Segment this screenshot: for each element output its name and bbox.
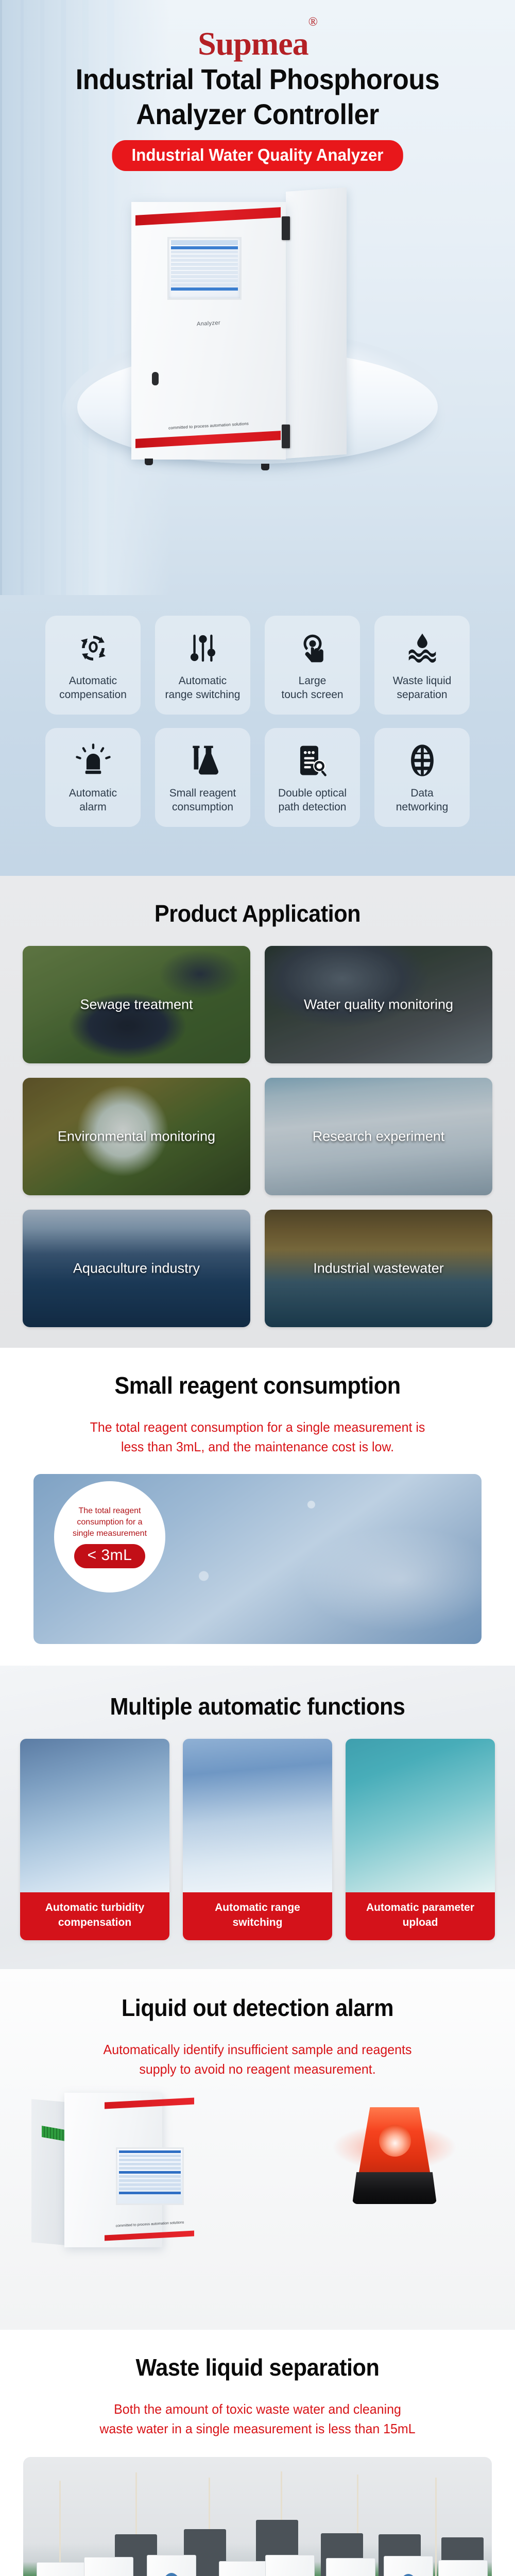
auto-compensation-icon bbox=[74, 629, 113, 668]
application-card-sewage-treatment[interactable]: Sewage treatment bbox=[23, 946, 250, 1063]
cabinet-top-stripe bbox=[135, 207, 281, 226]
feature-card-waste-liquid[interactable]: Waste liquid separation bbox=[374, 616, 470, 715]
section-subtitle-waste: Both the amount of toxic waste water and… bbox=[10, 2400, 505, 2438]
auto-function-card-turbidity-compensation[interactable]: Automatic turbidity compensation bbox=[20, 1739, 169, 1940]
application-caption: Industrial wastewater bbox=[265, 1261, 492, 1277]
auto-caption-line2: upload bbox=[403, 1917, 438, 1928]
auto-function-photo bbox=[183, 1739, 332, 1892]
feature-card-label: Small reagent consumption bbox=[169, 786, 236, 815]
alarm-beacon-illustration bbox=[330, 2098, 458, 2232]
waste-liquid-icon bbox=[403, 629, 442, 668]
product-cabinet: Analyzer committed to process automation… bbox=[131, 202, 286, 460]
application-caption: Research experiment bbox=[265, 1129, 492, 1145]
application-card-water-quality-monitoring[interactable]: Water quality monitoring bbox=[265, 946, 492, 1063]
page-title-line2: Analyzer Controller bbox=[136, 98, 379, 130]
auto-function-caption: Automatic parameter upload bbox=[346, 1892, 495, 1940]
small-reagent-section: Small reagent consumption The total reag… bbox=[0, 1348, 515, 1666]
application-caption: Environmental monitoring bbox=[23, 1129, 250, 1145]
feature-card-range-switching[interactable]: Automatic range switching bbox=[155, 616, 250, 715]
application-caption: Aquaculture industry bbox=[23, 1261, 250, 1277]
beacon-base bbox=[352, 2172, 437, 2204]
reagent-callout-bubble: The total reagent consumption for a sing… bbox=[54, 1481, 165, 1592]
instrument-top-stripe bbox=[105, 2098, 194, 2109]
cabinet-hinge-bottom-icon bbox=[282, 425, 290, 448]
application-card-research-experiment[interactable]: Research experiment bbox=[265, 1078, 492, 1195]
feature-row-2: Automatic alarm Small reagent consumptio… bbox=[0, 728, 515, 827]
feature-label-line1: Large bbox=[299, 675, 327, 687]
waste-subtitle-line1: Both the amount of toxic waste water and… bbox=[114, 2401, 401, 2417]
section-subtitle-alarm: Automatically identify insufficient samp… bbox=[10, 2040, 505, 2079]
application-grid: Sewage treatment Water quality monitorin… bbox=[0, 946, 515, 1327]
feature-label-line2: path detection bbox=[279, 801, 347, 813]
application-caption: Water quality monitoring bbox=[265, 997, 492, 1013]
waste-factory-photo bbox=[23, 2457, 492, 2576]
application-card-environmental-monitoring[interactable]: Environmental monitoring bbox=[23, 1078, 250, 1195]
hero-section: Supmea® Industrial Total Phosphorous Ana… bbox=[0, 0, 515, 595]
beacon-bulb bbox=[379, 2125, 411, 2157]
touch-screen-icon bbox=[293, 629, 332, 668]
auto-caption-line1: Automatic range bbox=[215, 1902, 300, 1913]
cabinet-bottom-stripe bbox=[135, 431, 281, 448]
auto-caption-line2: compensation bbox=[58, 1917, 131, 1928]
feature-label-line2: touch screen bbox=[281, 689, 343, 701]
liquid-out-alarm-section: Liquid out detection alarm Automatically… bbox=[0, 1969, 515, 2330]
auto-function-card-range-switching[interactable]: Automatic range switching bbox=[183, 1739, 332, 1940]
feature-label-line1: Double optical bbox=[278, 787, 347, 799]
auto-caption-line1: Automatic turbidity bbox=[45, 1902, 145, 1913]
application-caption: Sewage treatment bbox=[23, 997, 250, 1013]
feature-card-label: Automatic alarm bbox=[69, 786, 117, 815]
feature-label-line2: range switching bbox=[165, 689, 241, 701]
cabinet-lock-icon bbox=[152, 372, 159, 385]
feature-label-line1: Automatic bbox=[179, 675, 227, 687]
reagent-subtitle-line1: The total reagent consumption for a sing… bbox=[90, 1419, 425, 1435]
reagent-subtitle-line2: less than 3mL, and the maintenance cost … bbox=[121, 1439, 394, 1454]
feature-card-automatic-alarm[interactable]: Automatic alarm bbox=[45, 728, 141, 827]
product-cabinet-side bbox=[286, 188, 347, 459]
feature-label-line1: Automatic bbox=[69, 787, 117, 799]
auto-function-card-parameter-upload[interactable]: Automatic parameter upload bbox=[346, 1739, 495, 1940]
alarm-instrument-photo: committed to process automation solution… bbox=[28, 2093, 183, 2263]
feature-card-label: Waste liquid separation bbox=[393, 674, 452, 702]
reagent-callout-line2: consumption for a bbox=[77, 1518, 142, 1527]
feature-card-label: Data networking bbox=[396, 786, 449, 815]
range-switching-icon bbox=[183, 629, 222, 668]
feature-card-label: Automatic compensation bbox=[59, 674, 127, 702]
section-title-auto-functions: Multiple automatic functions bbox=[15, 1692, 500, 1720]
alarm-subtitle-line1: Automatically identify insufficient samp… bbox=[104, 2042, 412, 2057]
product-application-section: Product Application Sewage treatment Wat… bbox=[0, 876, 515, 1348]
trademark-symbol: ® bbox=[308, 15, 317, 29]
reagent-callout-text: The total reagent consumption for a sing… bbox=[73, 1505, 147, 1539]
auto-function-caption: Automatic turbidity compensation bbox=[20, 1892, 169, 1940]
feature-card-label: Automatic range switching bbox=[165, 674, 241, 702]
auto-function-photo bbox=[346, 1739, 495, 1892]
instrument-body: committed to process automation solution… bbox=[64, 2093, 162, 2247]
cabinet-foot bbox=[145, 459, 153, 465]
reagent-flask-icon bbox=[183, 741, 222, 780]
feature-card-small-reagent[interactable]: Small reagent consumption bbox=[155, 728, 250, 827]
feature-label-line1: Small reagent bbox=[169, 787, 236, 799]
feature-highlights-section: Automatic compensation bbox=[0, 595, 515, 876]
page-title: Industrial Total Phosphorous Analyzer Co… bbox=[18, 62, 497, 132]
cabinet-tagline: committed to process automation solution… bbox=[140, 420, 278, 432]
cabinet-hinge-top-icon bbox=[282, 216, 290, 240]
feature-label-line1: Data bbox=[410, 787, 433, 799]
instrument-terminal-block bbox=[42, 2126, 64, 2141]
feature-label-line1: Automatic bbox=[69, 675, 117, 687]
feature-label-line2: separation bbox=[397, 689, 447, 701]
auto-caption-line2: switching bbox=[233, 1917, 283, 1928]
feature-card-optical-detection[interactable]: Double optical path detection bbox=[265, 728, 360, 827]
waste-subtitle-line2: waste water in a single measurement is l… bbox=[99, 2421, 415, 2436]
application-card-aquaculture-industry[interactable]: Aquaculture industry bbox=[23, 1210, 250, 1327]
instrument-tagline: committed to process automation solution… bbox=[109, 2221, 191, 2228]
auto-caption-line1: Automatic parameter bbox=[366, 1902, 474, 1913]
feature-card-label: Double optical path detection bbox=[278, 786, 347, 815]
section-title-alarm: Liquid out detection alarm bbox=[15, 1994, 500, 2022]
instrument-screen bbox=[116, 2147, 184, 2205]
instrument-bottom-stripe bbox=[105, 2231, 194, 2241]
feature-row-1: Automatic compensation bbox=[0, 616, 515, 715]
alarm-beacon-icon bbox=[74, 741, 113, 780]
section-title-application: Product Application bbox=[15, 900, 500, 927]
auto-function-photo bbox=[20, 1739, 169, 1892]
feature-label-line2: consumption bbox=[172, 801, 233, 813]
feature-card-data-networking[interactable]: Data networking bbox=[374, 728, 470, 827]
section-subtitle-reagent: The total reagent consumption for a sing… bbox=[10, 1418, 505, 1456]
globe-network-icon bbox=[403, 741, 442, 780]
waste-liquid-separation-section: Waste liquid separation Both the amount … bbox=[0, 2330, 515, 2576]
automatic-functions-grid: Automatic turbidity compensation Automat… bbox=[0, 1739, 515, 1940]
feature-label-line2: alarm bbox=[79, 801, 107, 813]
feature-label-line2: compensation bbox=[59, 689, 127, 701]
cabinet-touch-screen bbox=[167, 237, 242, 300]
feature-card-touch-screen[interactable]: Large touch screen bbox=[265, 616, 360, 715]
optical-detection-icon bbox=[293, 741, 332, 780]
alarm-subtitle-line2: supply to avoid no reagent measurement. bbox=[139, 2061, 375, 2077]
feature-card-label: Large touch screen bbox=[281, 674, 343, 702]
feature-card-automatic-compensation[interactable]: Automatic compensation bbox=[45, 616, 141, 715]
page-title-line1: Industrial Total Phosphorous bbox=[76, 63, 439, 95]
auto-function-caption: Automatic range switching bbox=[183, 1892, 332, 1940]
cabinet-foot bbox=[261, 464, 269, 470]
automatic-functions-section: Multiple automatic functions Automatic t… bbox=[0, 1666, 515, 1969]
instrument-side-panel bbox=[31, 2099, 65, 2245]
section-title-reagent: Small reagent consumption bbox=[15, 1371, 500, 1399]
reagent-callout-line3: single measurement bbox=[73, 1529, 147, 1538]
reagent-photo: The total reagent consumption for a sing… bbox=[33, 1474, 482, 1644]
section-title-waste: Waste liquid separation bbox=[15, 2353, 500, 2381]
application-card-industrial-wastewater[interactable]: Industrial wastewater bbox=[265, 1210, 492, 1327]
product-detail-page: Supmea® Industrial Total Phosphorous Ana… bbox=[0, 0, 515, 2576]
brand-logo: Supmea® bbox=[0, 25, 515, 63]
brand-logo-text: Supmea bbox=[198, 25, 308, 62]
feature-label-line2: networking bbox=[396, 801, 449, 813]
feature-label-line1: Waste liquid bbox=[393, 675, 452, 687]
cabinet-product-label: Analyzer bbox=[131, 316, 286, 331]
reagent-value-pill: < 3mL bbox=[74, 1544, 146, 1568]
reagent-callout-line1: The total reagent bbox=[79, 1506, 141, 1515]
hero-subtitle-badge: Industrial Water Quality Analyzer bbox=[112, 140, 403, 171]
